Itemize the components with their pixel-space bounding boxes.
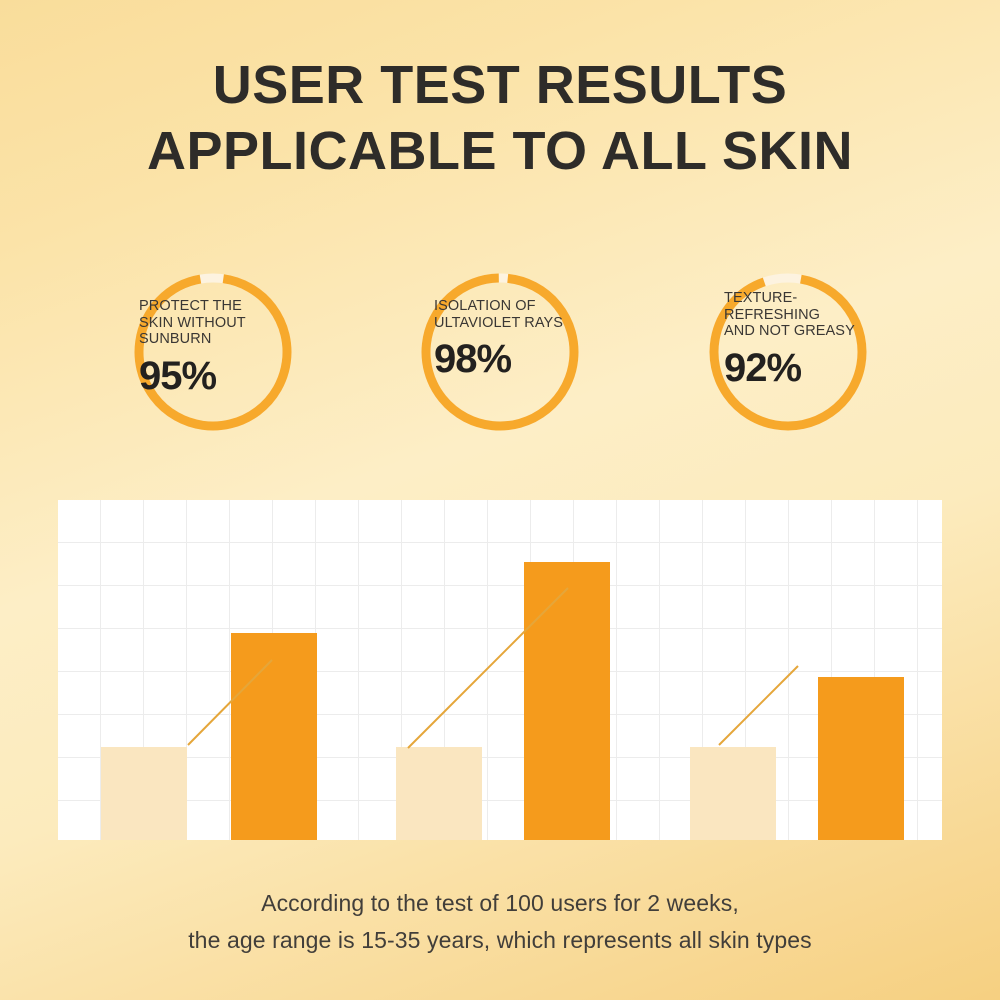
- bar-group1-before: [101, 747, 187, 840]
- bar-chart: [58, 500, 942, 840]
- page-title-line-1: USER TEST RESULTS: [0, 52, 1000, 118]
- stat-text-block: TEXTURE- REFRESHING AND NOT GREASY 92%: [724, 290, 876, 390]
- stat-card-uv-isolation: ISOLATION OF ULTAVIOLET RAYS 98%: [412, 264, 588, 440]
- bar-group1-after: [231, 633, 317, 840]
- caption-line-2: the age range is 15-35 years, which repr…: [0, 922, 1000, 959]
- stat-label: PROTECT THE SKIN WITHOUT SUNBURN: [139, 298, 291, 348]
- caption-line-1: According to the test of 100 users for 2…: [0, 885, 1000, 922]
- stat-card-protect-skin: PROTECT THE SKIN WITHOUT SUNBURN 95%: [125, 264, 301, 440]
- stat-label: ISOLATION OF ULTAVIOLET RAYS: [434, 298, 586, 331]
- chart-caption: According to the test of 100 users for 2…: [0, 885, 1000, 959]
- bar-group2-after: [524, 562, 610, 840]
- stat-value: 95%: [139, 354, 291, 398]
- page-title-line-2: APPLICABLE TO ALL SKIN: [0, 118, 1000, 184]
- page-title: USER TEST RESULTS APPLICABLE TO ALL SKIN: [0, 52, 1000, 184]
- stat-text-block: PROTECT THE SKIN WITHOUT SUNBURN 95%: [139, 298, 291, 398]
- bar-group2-before: [396, 747, 482, 840]
- stat-value: 98%: [434, 337, 586, 381]
- trend-arrow-group3: [719, 666, 798, 745]
- stat-card-texture-refreshing: TEXTURE- REFRESHING AND NOT GREASY 92%: [700, 264, 876, 440]
- stat-label: TEXTURE- REFRESHING AND NOT GREASY: [724, 290, 876, 340]
- stat-text-block: ISOLATION OF ULTAVIOLET RAYS 98%: [434, 298, 586, 381]
- bar-group3-after: [818, 677, 904, 840]
- bar-group3-before: [690, 747, 776, 840]
- stats-row: PROTECT THE SKIN WITHOUT SUNBURN 95% ISO…: [0, 262, 1000, 442]
- chart-bars-and-arrows: [58, 500, 942, 840]
- stat-value: 92%: [724, 346, 876, 390]
